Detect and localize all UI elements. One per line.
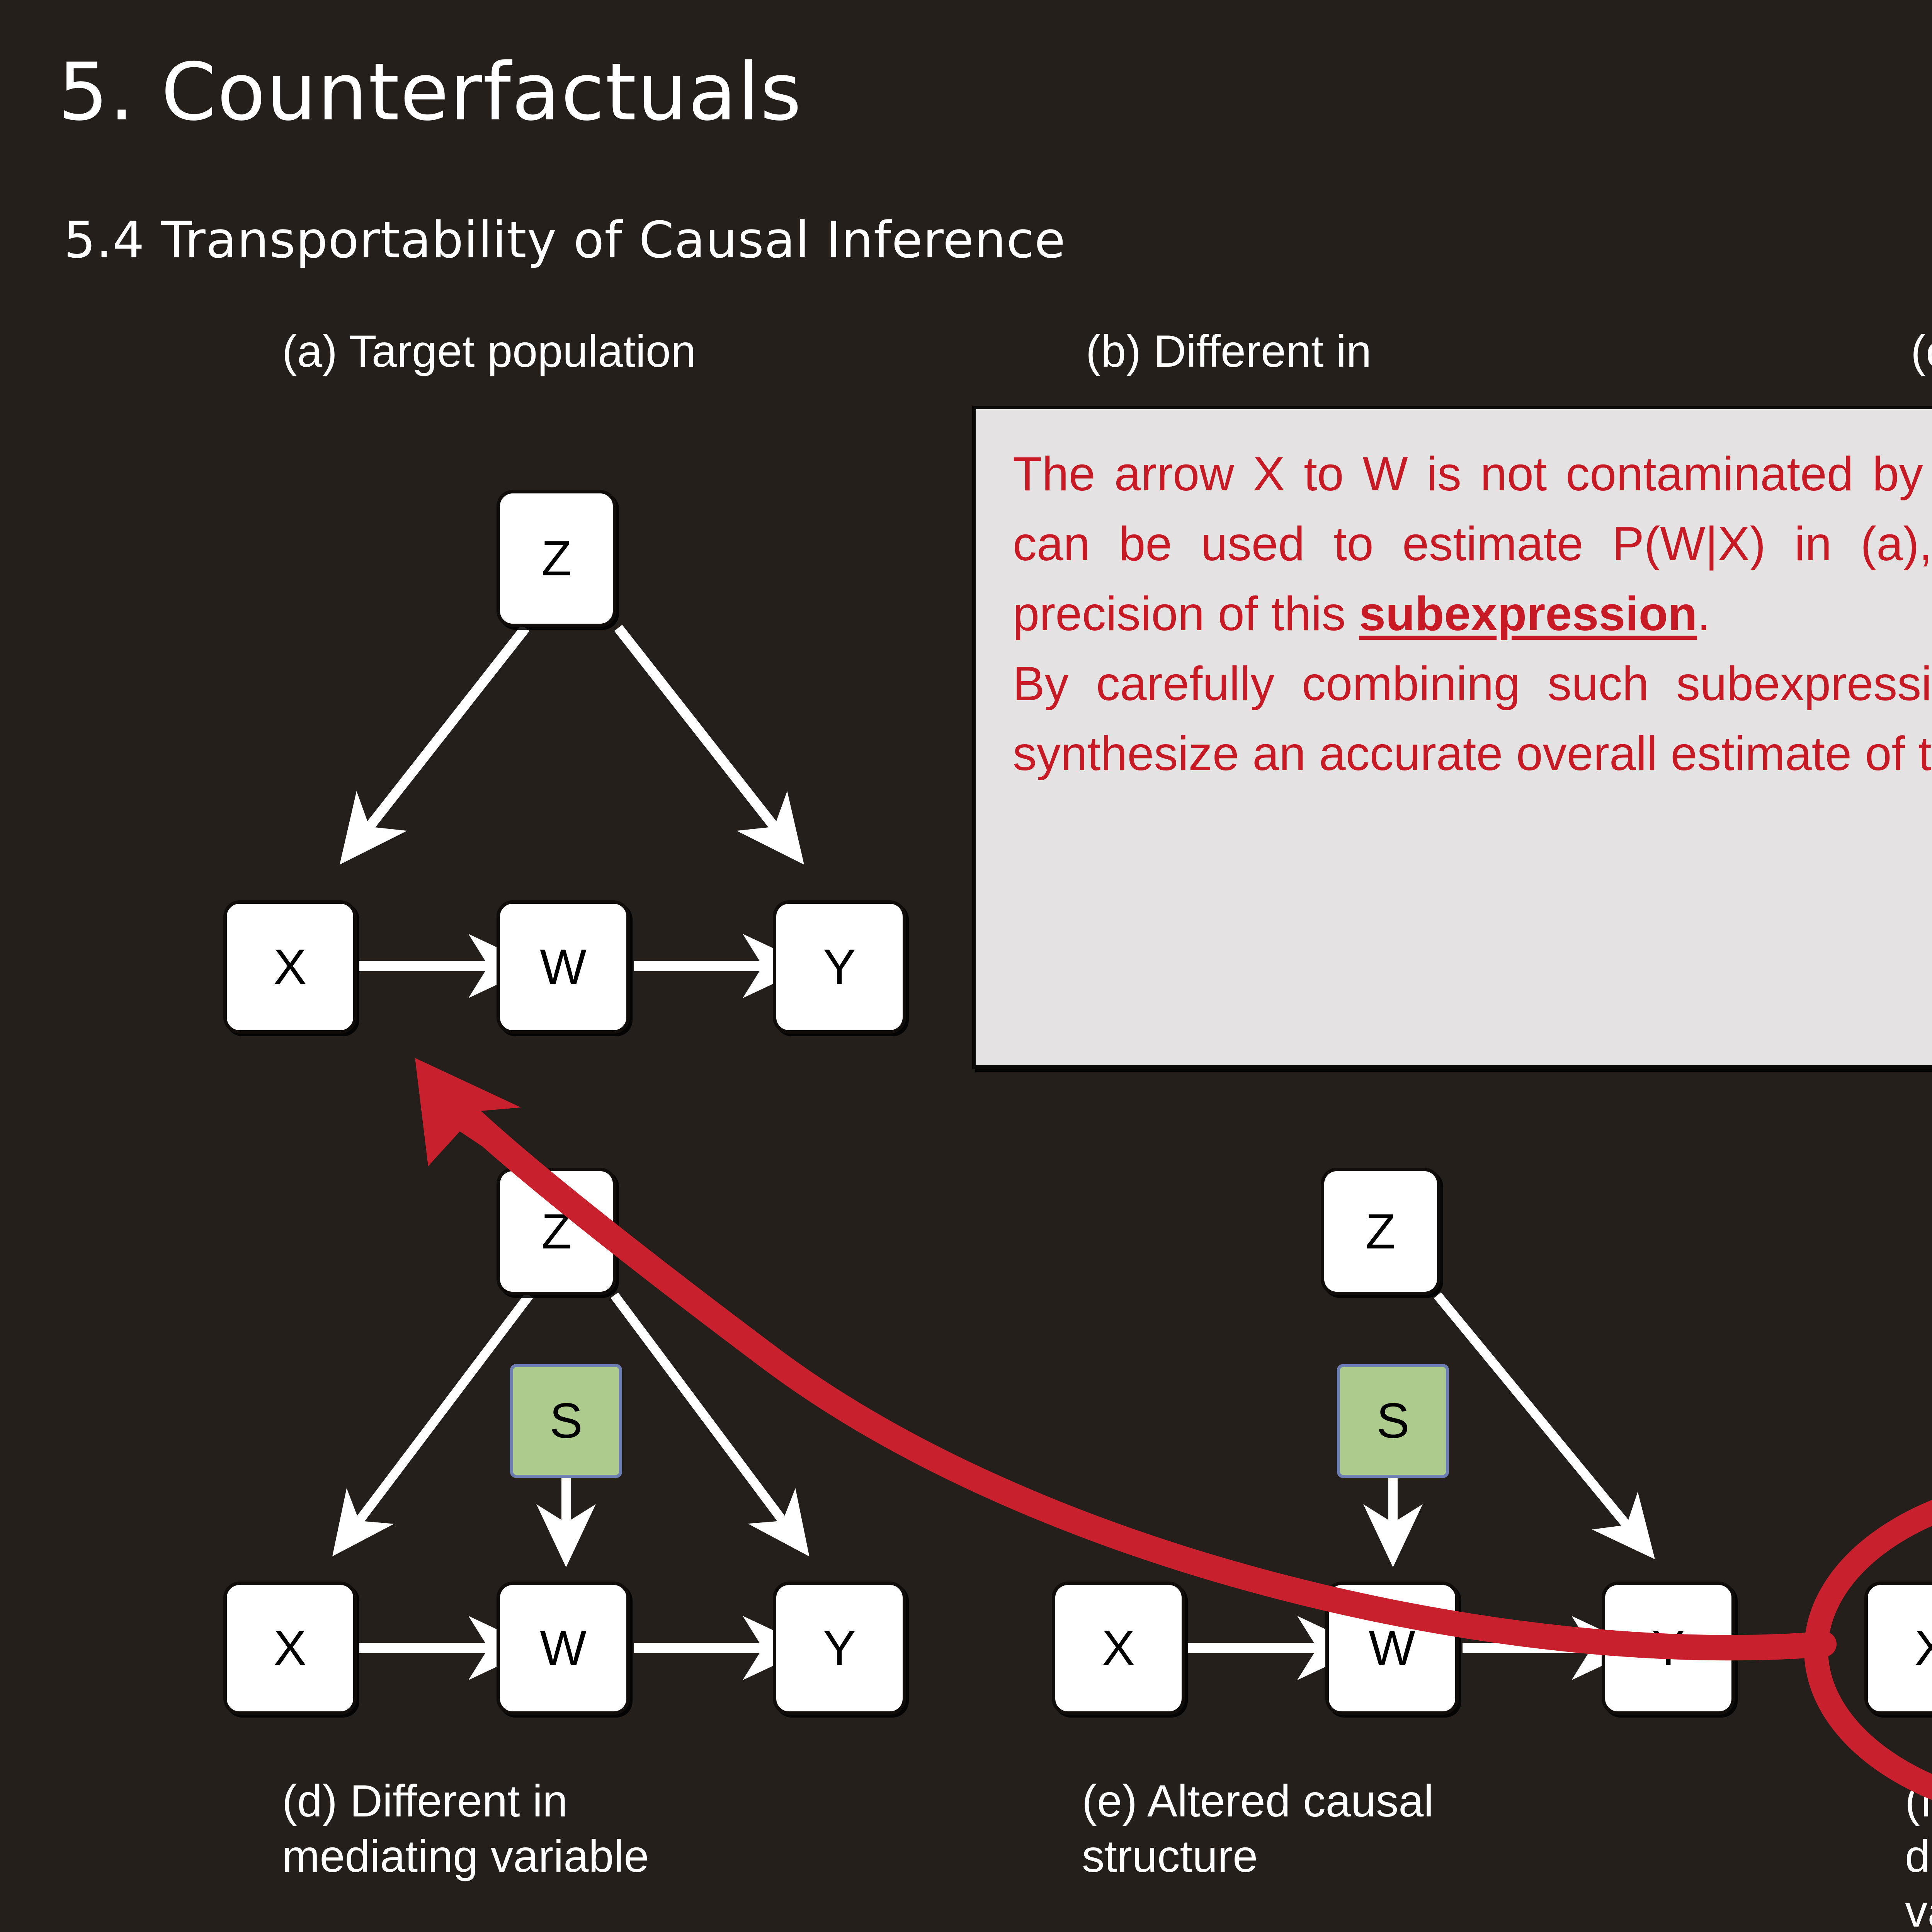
curved-pointer-arrow-head — [415, 1058, 521, 1166]
panel-f-node-x[interactable]: X — [1864, 1582, 1932, 1715]
edge-z-to-x — [354, 1295, 529, 1528]
page-subtitle: 5.4 Transportability of Causal Inference — [64, 211, 1066, 269]
panel-label-e: (e) Altered causal structure — [1082, 1774, 1434, 1884]
panel-a-node-x[interactable]: X — [223, 900, 357, 1034]
panel-d-node-y[interactable]: Y — [773, 1582, 906, 1715]
callout-p1-post: . — [1697, 587, 1710, 641]
edge-z-to-y — [618, 628, 781, 835]
callout-emphasis-subexpression: subexpression — [1359, 587, 1697, 641]
callout-paragraph-1: The arrow X to W is not contaminated by … — [1013, 439, 1932, 649]
panel-d-node-z[interactable]: Z — [497, 1168, 616, 1295]
panel-label-f: (f) Altered structure, different in outc… — [1905, 1774, 1932, 1932]
panel-e-node-z[interactable]: Z — [1321, 1168, 1440, 1295]
panel-e-node-y[interactable]: Y — [1602, 1582, 1735, 1715]
panel-label-d: (d) Different in mediating variable — [282, 1774, 649, 1884]
edge-z-to-y — [614, 1295, 788, 1528]
panel-d-node-w[interactable]: W — [497, 1582, 630, 1715]
panel-e-node-s[interactable]: S — [1337, 1364, 1449, 1478]
slide-root: 5. Counterfactuals 5.4 Transportability … — [0, 0, 1932, 1932]
panel-label-a: (a) Target population — [282, 324, 696, 379]
panel-d-node-x[interactable]: X — [223, 1582, 357, 1715]
panel-a-node-w[interactable]: W — [497, 900, 630, 1034]
callout-box: The arrow X to W is not contaminated by … — [972, 406, 1932, 1069]
edge-z-to-x — [363, 628, 526, 835]
page-title: 5. Counterfactuals — [58, 46, 802, 138]
panel-e-node-w[interactable]: W — [1325, 1582, 1459, 1715]
panel-a-node-z[interactable]: Z — [497, 490, 616, 627]
curved-pointer-arrow-shaft — [448, 1097, 1824, 1648]
callout-paragraph-2: By carefully combining such subexpressio… — [1013, 649, 1932, 789]
edge-z-to-y — [1437, 1295, 1633, 1532]
panel-a-node-y[interactable]: Y — [773, 900, 906, 1034]
panel-e-node-x[interactable]: X — [1052, 1582, 1185, 1715]
panel-label-c: (c) Different in — [1911, 324, 1932, 379]
panel-label-b: (b) Different in — [1086, 324, 1371, 379]
panel-d-node-s[interactable]: S — [510, 1364, 622, 1478]
